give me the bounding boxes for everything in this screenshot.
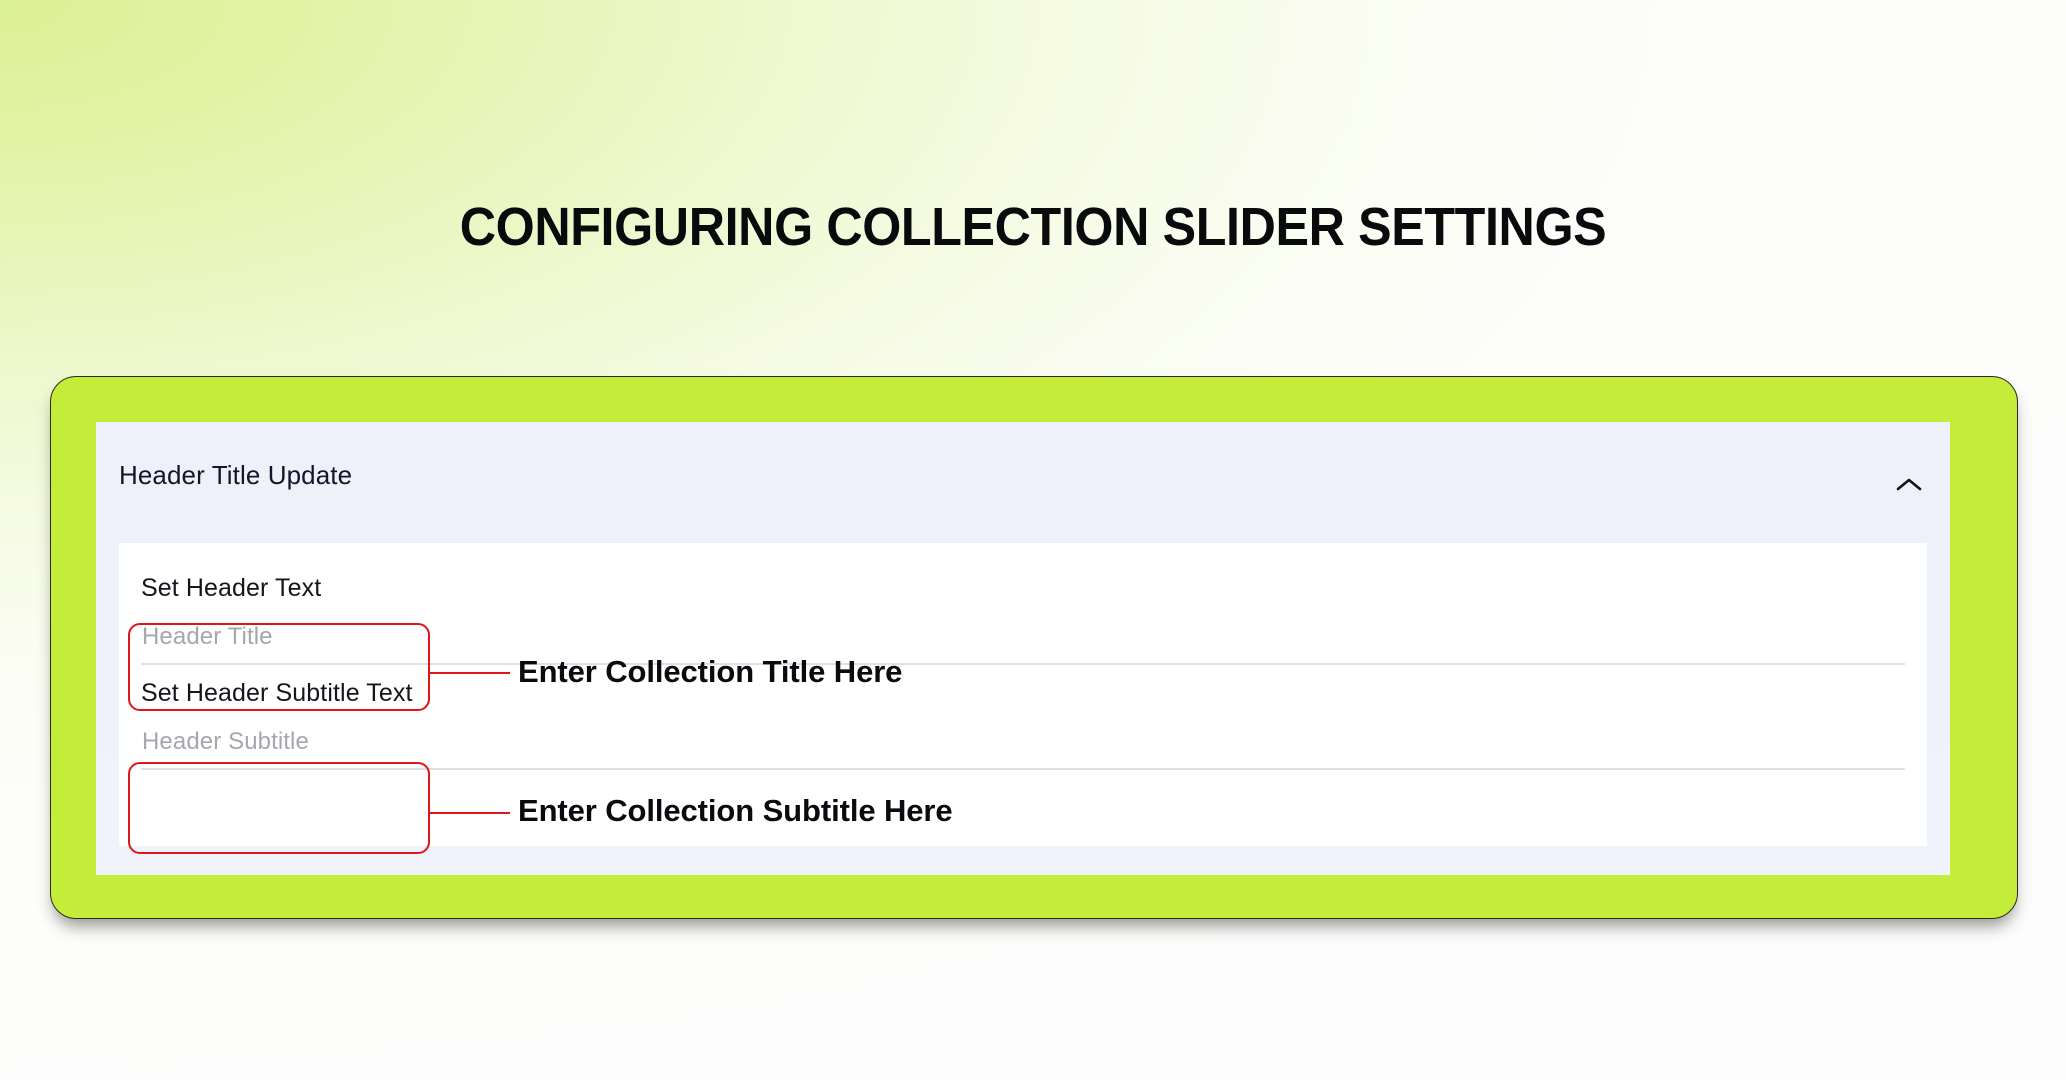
field-label-header-subtitle-text: Set Header Subtitle Text [141, 679, 413, 708]
accordion-title: Header Title Update [119, 460, 352, 490]
chevron-up-icon[interactable] [1890, 466, 1928, 504]
field-label-header-text: Set Header Text [141, 574, 321, 603]
header-subtitle-placeholder: Header Subtitle [142, 727, 309, 757]
accordion-content-panel: Set Header Text Header Title Set Header … [119, 543, 1927, 846]
accordion-panel: Header Title Update Set Header Text Head… [96, 422, 1950, 875]
page-title: CONFIGURING COLLECTION SLIDER SETTINGS [72, 196, 1993, 258]
green-frame-card: Header Title Update Set Header Text Head… [50, 376, 2018, 919]
annotation-label-title: Enter Collection Title Here [518, 654, 902, 690]
annotation-label-subtitle: Enter Collection Subtitle Here [518, 793, 953, 829]
header-title-placeholder: Header Title [142, 622, 273, 652]
accordion-header[interactable]: Header Title Update [96, 422, 1950, 543]
header-subtitle-input[interactable]: Header Subtitle [141, 720, 1905, 770]
header-title-input[interactable]: Header Title [141, 615, 1905, 665]
